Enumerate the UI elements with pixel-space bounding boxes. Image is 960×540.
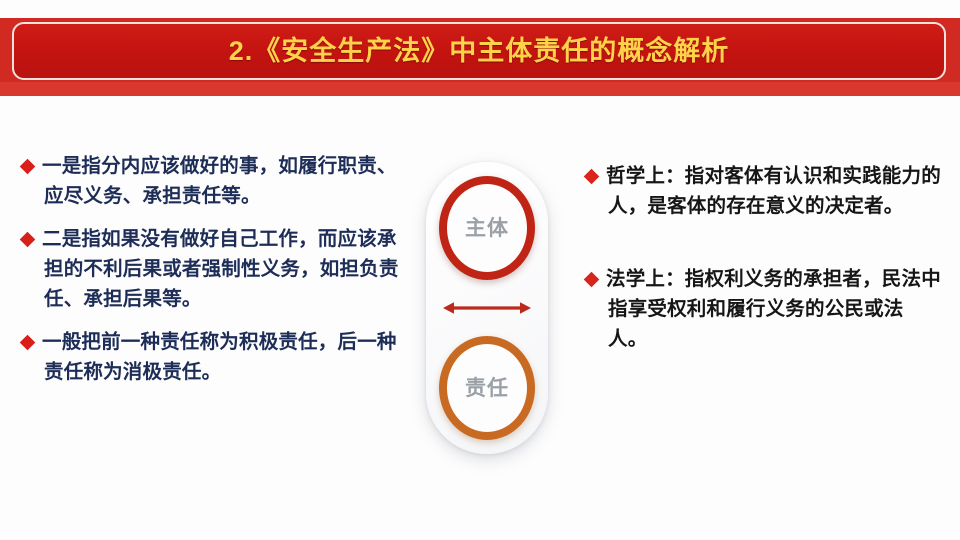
diamond-bullet-icon	[20, 159, 36, 175]
list-item: 法学上：指权利义务的承担者，民法中指享受权利和履行义务的公民或法人。	[586, 265, 942, 354]
slide-canvas: 2.《安全生产法》中主体责任的概念解析 一是指分内应该做好的事，如履行职责、应尽…	[0, 0, 960, 540]
list-item-text: 二是指如果没有做好自己工作，而应该承担的不利后果或者强制性义务，如担负责任、承担…	[44, 225, 404, 314]
list-item-text: 一般把前一种责任称为积极责任，后一种责任称为消极责任。	[44, 328, 404, 387]
ring-subject: 主体	[439, 176, 535, 280]
list-item-text: 哲学上：指对客体有认识和实践能力的人，是客体的存在意义的决定者。	[608, 162, 942, 221]
title-banner-plate: 2.《安全生产法》中主体责任的概念解析	[12, 22, 946, 80]
ring-duty-label: 责任	[465, 378, 509, 399]
ring-subject-label: 主体	[465, 218, 509, 239]
page-title: 2.《安全生产法》中主体责任的概念解析	[229, 38, 730, 65]
slide-body: 一是指分内应该做好的事，如履行职责、应尽义务、承担责任等。 二是指如果没有做好自…	[0, 100, 960, 540]
right-bullet-list: 哲学上：指对客体有认识和实践能力的人，是客体的存在意义的决定者。 法学上：指权利…	[586, 162, 942, 354]
list-item: 哲学上：指对客体有认识和实践能力的人，是客体的存在意义的决定者。	[586, 162, 942, 221]
left-bullet-list: 一是指分内应该做好的事，如履行职责、应尽义务、承担责任等。 二是指如果没有做好自…	[22, 152, 404, 387]
diamond-bullet-icon	[584, 272, 600, 288]
list-item-text: 一是指分内应该做好的事，如履行职责、应尽义务、承担责任等。	[44, 152, 404, 211]
list-item-text: 法学上：指权利义务的承担者，民法中指享受权利和履行义务的公民或法人。	[608, 265, 942, 354]
list-item: 一是指分内应该做好的事，如履行职责、应尽义务、承担责任等。	[22, 152, 404, 211]
relationship-diagram-card: 主体 责任	[426, 162, 548, 454]
diamond-bullet-icon	[20, 232, 36, 248]
left-content-column: 一是指分内应该做好的事，如履行职责、应尽义务、承担责任等。 二是指如果没有做好自…	[22, 100, 404, 401]
diamond-bullet-icon	[584, 169, 600, 185]
ring-duty: 责任	[439, 336, 535, 440]
list-item: 二是指如果没有做好自己工作，而应该承担的不利后果或者强制性义务，如担负责任、承担…	[22, 225, 404, 314]
double-headed-arrow-icon	[443, 300, 531, 316]
diamond-bullet-icon	[20, 335, 36, 351]
list-item: 一般把前一种责任称为积极责任，后一种责任称为消极责任。	[22, 328, 404, 387]
right-content-column: 哲学上：指对客体有认识和实践能力的人，是客体的存在意义的决定者。 法学上：指权利…	[586, 100, 942, 398]
